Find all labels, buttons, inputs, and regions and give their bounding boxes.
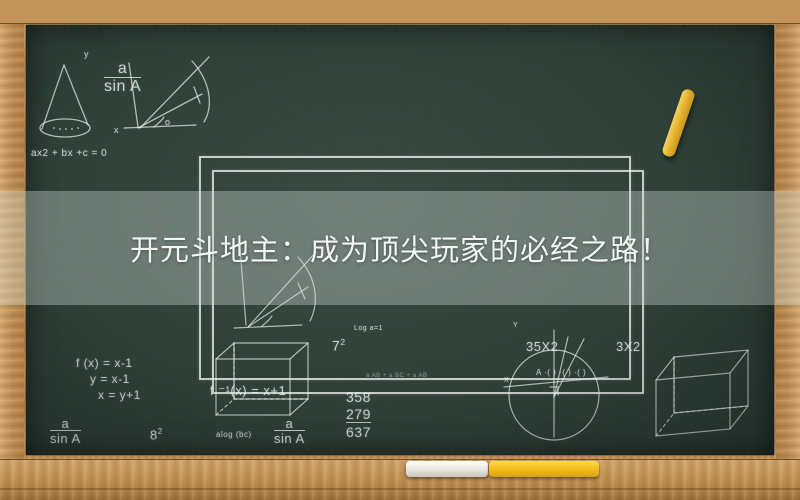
- yellow-chalk-icon: [489, 461, 599, 477]
- frame-bottom-ledge: [0, 459, 800, 500]
- page-title: 开元斗地主：成为顶尖玩家的必经之路！: [0, 191, 800, 305]
- chalkboard-banner: y x o a sin A ax2 + bx +c = 0: [0, 0, 800, 500]
- frame-top-rail: [0, 0, 800, 24]
- white-chalk-icon: [406, 461, 488, 477]
